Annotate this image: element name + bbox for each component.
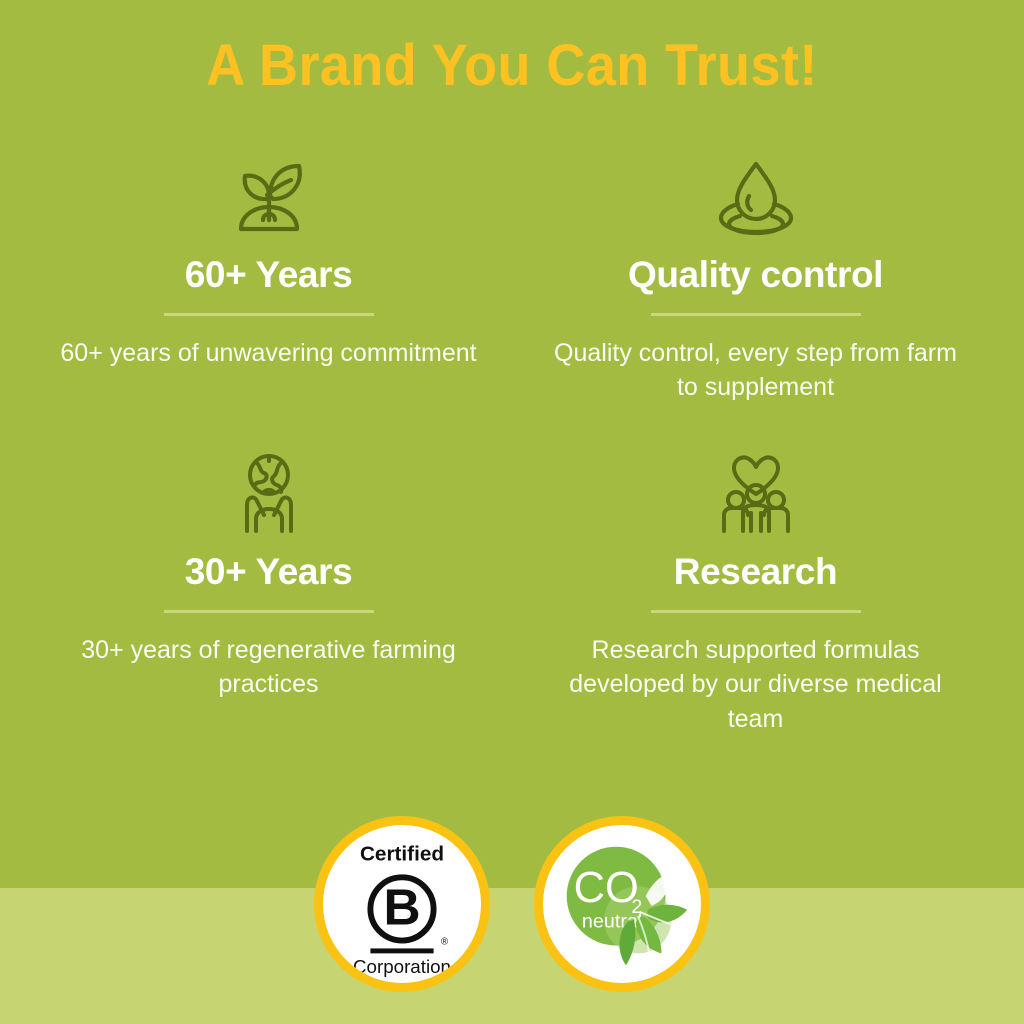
feature-heading: 30+ Years (185, 553, 353, 592)
feature-card-research: Research Research supported formulas dev… (517, 447, 994, 736)
page-title: A Brand You Can Trust! (36, 34, 988, 98)
b-corp-registered-mark: ® (441, 936, 449, 947)
feature-divider (651, 313, 861, 316)
feature-heading: 60+ Years (185, 256, 353, 295)
b-corp-rule (370, 948, 433, 953)
b-corp-mark: Certified B ® Corporation (323, 825, 481, 983)
feature-heading: Research (674, 553, 837, 592)
feature-description: Quality control, every step from farm to… (546, 336, 966, 405)
seedling-icon (223, 150, 315, 242)
feature-divider (164, 610, 374, 613)
co2-neutral-mark: CO 2 neutral (543, 825, 701, 983)
brand-trust-poster: A Brand You Can Trust! 60+ Years 60+ yea… (0, 0, 1024, 1024)
feature-divider (164, 313, 374, 316)
certification-badges: Certified B ® Corporation CO 2 neutral (0, 816, 1024, 992)
feature-grid: 60+ Years 60+ years of unwavering commit… (30, 150, 994, 736)
feature-description: 30+ years of regenerative farming practi… (59, 633, 479, 702)
b-corp-corporation-label: Corporation (353, 956, 451, 977)
feature-card-quality-control: Quality control Quality control, every s… (517, 150, 994, 405)
people-heart-icon (710, 447, 802, 539)
feature-description: 60+ years of unwavering commitment (60, 336, 476, 371)
b-corporation-badge: Certified B ® Corporation (314, 816, 490, 992)
feature-description: Research supported formulas developed by… (541, 633, 971, 737)
feature-divider (651, 610, 861, 613)
co2-neutral-badge: CO 2 neutral (534, 816, 710, 992)
feature-card-years-60: 60+ Years 60+ years of unwavering commit… (30, 150, 507, 405)
co2-label: CO (574, 864, 639, 912)
b-corp-letter-b: B (383, 879, 420, 936)
water-drop-ripple-icon (710, 150, 802, 242)
feature-heading: Quality control (628, 256, 883, 295)
hands-holding-globe-icon (223, 447, 315, 539)
feature-card-years-30: 30+ Years 30+ years of regenerative farm… (30, 447, 507, 736)
b-corp-certified-label: Certified (360, 843, 444, 866)
